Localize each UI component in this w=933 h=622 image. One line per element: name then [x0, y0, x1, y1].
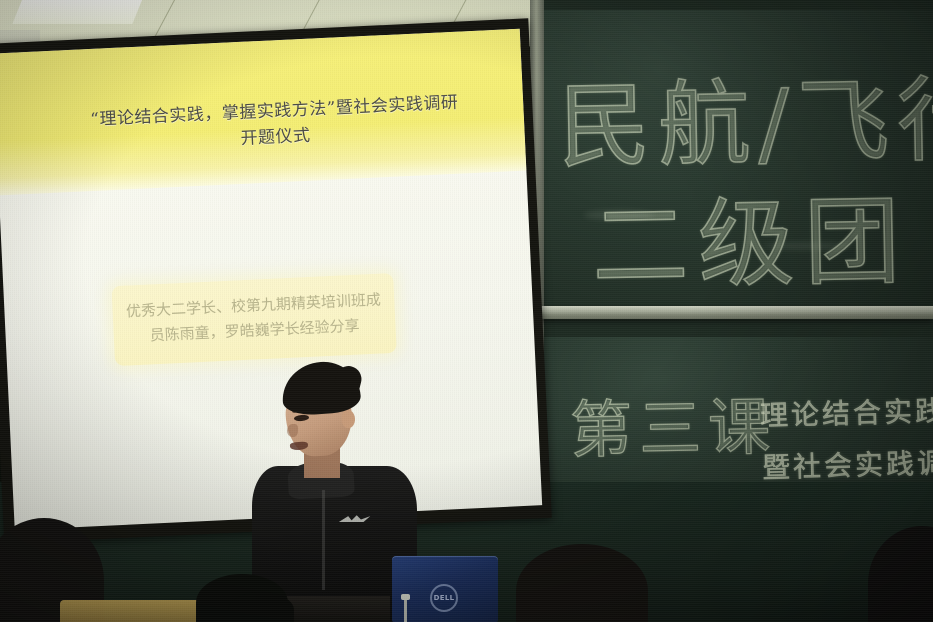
chalk-rail-upper — [530, 306, 933, 319]
blackboard: 民航/飞行学 二级团 第三课 理论结合实践 暨社会实践调 — [530, 0, 933, 560]
dell-laptop: DELL — [392, 556, 498, 622]
presenter-ear — [342, 410, 355, 428]
lecture-hall-photo: 民航/飞行学 二级团 第三课 理论结合实践 暨社会实践调 “理论结合实践，掌握实… — [0, 0, 933, 622]
audience-head — [228, 592, 294, 622]
blackboard-lesson-line-1: 理论结合实践 — [760, 390, 933, 435]
slide-callout-box: 优秀大二学长、校第九期精英培训班成员陈雨童，罗皓巍学长经验分享 — [111, 273, 396, 366]
blackboard-heading-line-2: 二级团 — [591, 163, 911, 308]
dell-logo-icon: DELL — [430, 584, 458, 612]
presenter-hair — [280, 359, 361, 416]
presenter-jacket-zipper — [322, 490, 325, 590]
mizuno-logo-icon — [338, 514, 372, 525]
chair-back — [60, 600, 210, 622]
microphone-stand — [404, 598, 407, 622]
presenter-nose — [287, 424, 298, 437]
blackboard-lesson-line-2: 暨社会实践调 — [762, 442, 933, 487]
blackboard-lesson-heading: 第三课 — [569, 376, 778, 470]
ceiling-light-panel — [12, 0, 143, 24]
